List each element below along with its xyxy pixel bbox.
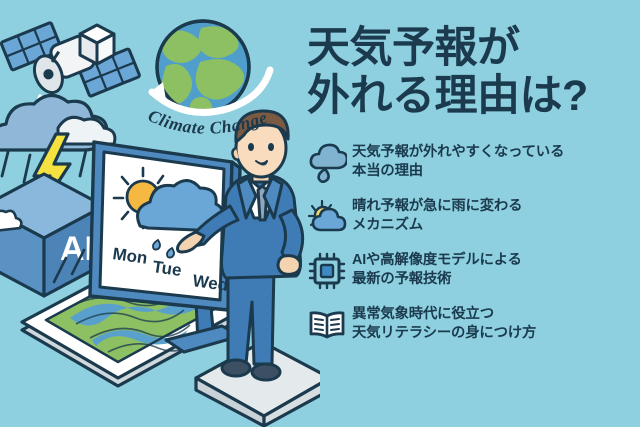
list-item-line-2: 本当の理由 — [352, 162, 564, 181]
rain-cloud-icon — [307, 143, 347, 183]
page-title: 天気予報が 外れる理由は? — [307, 24, 637, 120]
list-item-line-1: 天気予報が外れやすくなっている — [352, 143, 564, 162]
list-item: 晴れ予報が急に雨に変わる メカニズム — [307, 196, 640, 237]
open-book-icon — [307, 305, 347, 345]
cpu-chip-icon — [307, 251, 347, 291]
list-item-text: 異常気象時代に役立つ 天気リテラシーの身につけ方 — [352, 304, 536, 343]
list-item-line-1: 異常気象時代に役立つ — [352, 305, 536, 324]
poster-canvas: AI — [0, 0, 640, 427]
sun-behind-cloud-icon — [307, 197, 347, 237]
day-label-tue: Tue — [151, 257, 182, 280]
title-line-2: 外れる理由は? — [307, 72, 637, 120]
list-item: 天気予報が外れやすくなっている 本当の理由 — [307, 142, 640, 183]
list-item-text: 天気予報が外れやすくなっている 本当の理由 — [352, 142, 564, 181]
list-item-text: 晴れ予報が急に雨に変わる メカニズム — [352, 196, 522, 235]
list-item-line-2: メカニズム — [352, 216, 522, 235]
bullet-list: 天気予報が外れやすくなっている 本当の理由 — [307, 142, 640, 358]
list-item-text: AIや高解像度モデルによる 最新の予報技術 — [352, 250, 522, 289]
list-item-line-2: 最新の予報技術 — [352, 270, 522, 289]
list-item-line-2: 天気リテラシーの身につけ方 — [352, 324, 536, 343]
list-item: AIや高解像度モデルによる 最新の予報技術 — [307, 250, 640, 291]
title-line-1: 天気予報が — [307, 24, 637, 72]
list-item: 異常気象時代に役立つ 天気リテラシーの身につけ方 — [307, 304, 640, 345]
list-item-line-1: 晴れ予報が急に雨に変わる — [352, 197, 522, 216]
illustration-svg: AI — [0, 0, 320, 427]
illustration-area: AI — [0, 0, 320, 427]
list-item-line-1: AIや高解像度モデルによる — [352, 251, 522, 270]
